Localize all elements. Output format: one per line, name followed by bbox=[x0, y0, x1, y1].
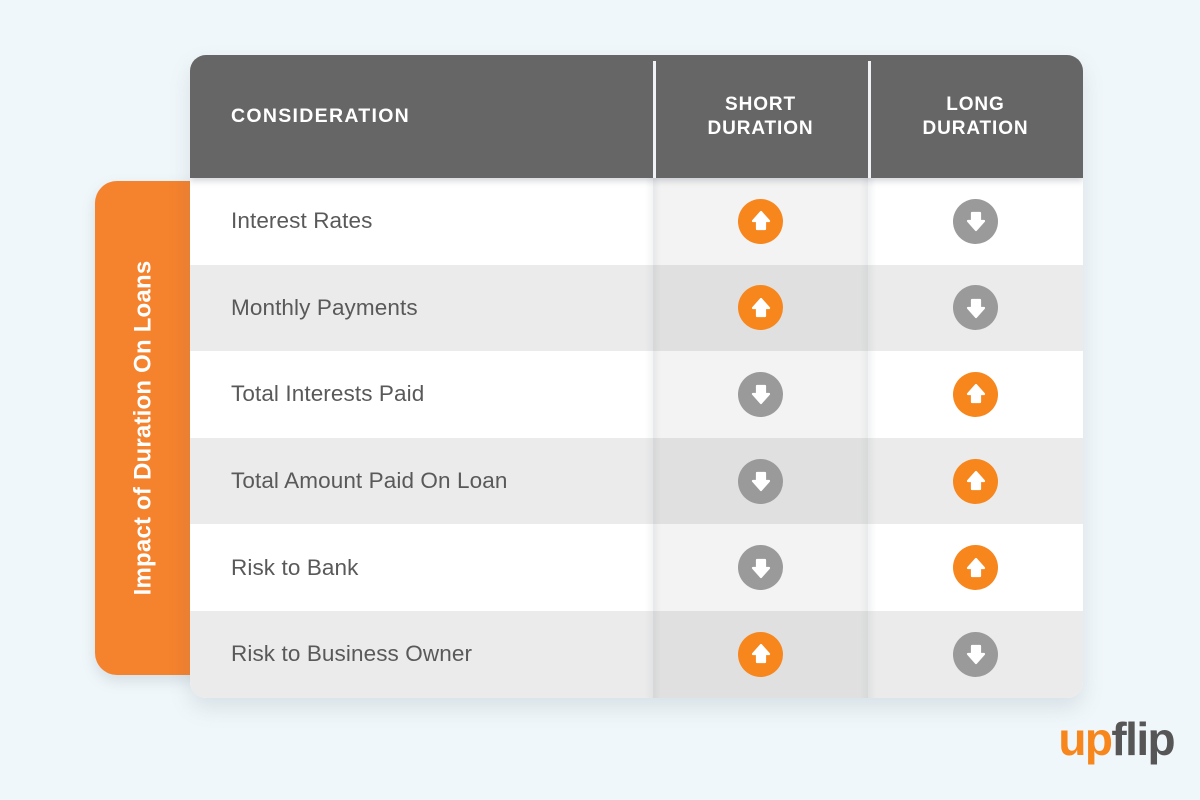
header-divider-2 bbox=[868, 61, 871, 178]
row-label-cell: Total Amount Paid On Loan bbox=[190, 438, 653, 525]
row-label-cell: Interest Rates bbox=[190, 178, 653, 265]
long-duration-cell bbox=[868, 438, 1083, 525]
short-duration-cell bbox=[653, 524, 868, 611]
arrow-down-icon bbox=[953, 285, 998, 330]
column-header-long-duration: LONG DURATION bbox=[868, 55, 1083, 178]
table-body: Interest RatesMonthly PaymentsTotal Inte… bbox=[190, 178, 1083, 698]
row-label-text: Risk to Bank bbox=[231, 555, 359, 581]
column-header-short-duration: SHORT DURATION bbox=[653, 55, 868, 178]
row-label-text: Monthly Payments bbox=[231, 295, 418, 321]
arrow-up-icon bbox=[953, 372, 998, 417]
arrow-up-icon bbox=[953, 545, 998, 590]
short-duration-cell bbox=[653, 351, 868, 438]
side-tab-impact-of-duration: Impact of Duration On Loans bbox=[95, 181, 205, 675]
upflip-logo: upflip bbox=[1058, 716, 1174, 762]
row-label-text: Risk to Business Owner bbox=[231, 641, 472, 667]
arrow-down-icon bbox=[953, 632, 998, 677]
short-duration-cell bbox=[653, 611, 868, 698]
table-header-row: CONSIDERATION SHORT DURATION LONG DURATI… bbox=[190, 55, 1083, 178]
arrow-up-icon bbox=[738, 199, 783, 244]
column-header-long-duration-line2: DURATION bbox=[922, 117, 1028, 140]
comparison-table-card: CONSIDERATION SHORT DURATION LONG DURATI… bbox=[190, 55, 1083, 698]
table-row: Risk to Bank bbox=[190, 524, 1083, 611]
column-header-consideration-label: CONSIDERATION bbox=[231, 105, 410, 128]
row-label-text: Total Amount Paid On Loan bbox=[231, 468, 507, 494]
arrow-down-icon bbox=[738, 459, 783, 504]
short-duration-cell bbox=[653, 438, 868, 525]
arrow-up-icon bbox=[738, 632, 783, 677]
table-row: Total Interests Paid bbox=[190, 351, 1083, 438]
row-label-cell: Risk to Business Owner bbox=[190, 611, 653, 698]
table-row: Total Amount Paid On Loan bbox=[190, 438, 1083, 525]
logo-text-flip: flip bbox=[1111, 713, 1174, 765]
arrow-down-icon bbox=[953, 199, 998, 244]
long-duration-cell bbox=[868, 265, 1083, 352]
long-duration-cell bbox=[868, 611, 1083, 698]
side-tab-label: Impact of Duration On Loans bbox=[129, 261, 157, 596]
table-row: Risk to Business Owner bbox=[190, 611, 1083, 698]
table-row: Interest Rates bbox=[190, 178, 1083, 265]
arrow-down-icon bbox=[738, 372, 783, 417]
short-duration-cell bbox=[653, 178, 868, 265]
header-divider-1 bbox=[653, 61, 656, 178]
long-duration-cell bbox=[868, 178, 1083, 265]
column-header-long-duration-line1: LONG bbox=[946, 93, 1005, 116]
arrow-up-icon bbox=[953, 459, 998, 504]
arrow-down-icon bbox=[738, 545, 783, 590]
table-row: Monthly Payments bbox=[190, 265, 1083, 352]
logo-text-up: up bbox=[1058, 713, 1111, 765]
row-label-cell: Monthly Payments bbox=[190, 265, 653, 352]
long-duration-cell bbox=[868, 524, 1083, 611]
row-label-text: Total Interests Paid bbox=[231, 381, 424, 407]
column-header-consideration: CONSIDERATION bbox=[190, 55, 653, 178]
row-label-cell: Risk to Bank bbox=[190, 524, 653, 611]
column-header-short-duration-line1: SHORT bbox=[725, 93, 796, 116]
arrow-up-icon bbox=[738, 285, 783, 330]
row-label-cell: Total Interests Paid bbox=[190, 351, 653, 438]
long-duration-cell bbox=[868, 351, 1083, 438]
row-label-text: Interest Rates bbox=[231, 208, 372, 234]
short-duration-cell bbox=[653, 265, 868, 352]
column-header-short-duration-line2: DURATION bbox=[707, 117, 813, 140]
